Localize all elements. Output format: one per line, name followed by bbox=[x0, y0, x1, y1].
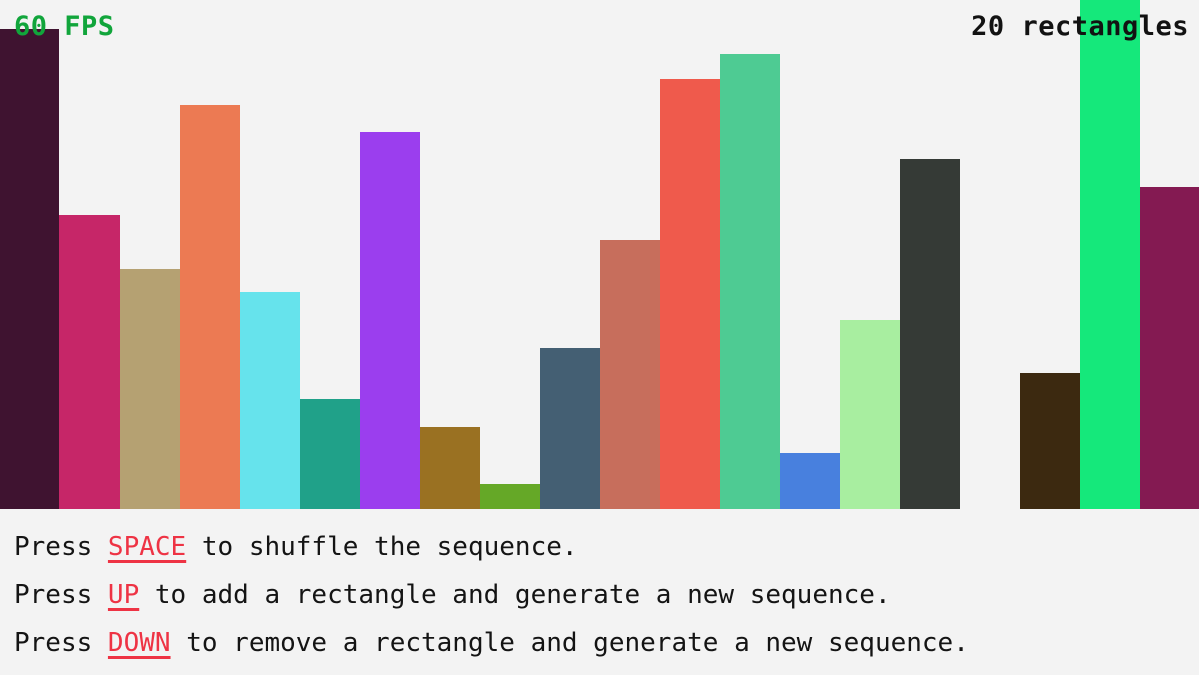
app-canvas: 60 FPS 20 rectangles Press SPACE to shuf… bbox=[0, 0, 1199, 675]
bar-6 bbox=[300, 399, 360, 509]
key-space[interactable]: SPACE bbox=[108, 532, 186, 562]
bar-14 bbox=[780, 453, 840, 509]
bar-8 bbox=[420, 427, 480, 509]
bar-9 bbox=[480, 484, 540, 509]
bar-4 bbox=[180, 105, 240, 509]
instructions-panel: Press SPACE to shuffle the sequence. Pre… bbox=[0, 509, 1199, 675]
bar-16 bbox=[900, 159, 960, 509]
instruction-line-up: Press UP to add a rectangle and generate… bbox=[14, 571, 1199, 619]
bar-12 bbox=[660, 79, 720, 509]
bar-2 bbox=[59, 215, 120, 509]
instruction-prefix: Press bbox=[14, 580, 108, 610]
bar-18 bbox=[1020, 373, 1080, 509]
key-down[interactable]: DOWN bbox=[108, 628, 171, 658]
instruction-suffix: to remove a rectangle and generate a new… bbox=[171, 628, 969, 658]
instruction-suffix: to add a rectangle and generate a new se… bbox=[139, 580, 890, 610]
bar-13 bbox=[720, 54, 780, 509]
instruction-line-space: Press SPACE to shuffle the sequence. bbox=[14, 523, 1199, 571]
instruction-suffix: to shuffle the sequence. bbox=[186, 532, 577, 562]
instruction-prefix: Press bbox=[14, 628, 108, 658]
instruction-prefix: Press bbox=[14, 532, 108, 562]
bar-19 bbox=[1080, 0, 1140, 509]
bar-15 bbox=[840, 320, 900, 509]
bar-3 bbox=[120, 269, 180, 509]
fps-counter: 60 FPS bbox=[14, 11, 115, 42]
bar-11 bbox=[600, 240, 660, 509]
key-up[interactable]: UP bbox=[108, 580, 139, 610]
bar-20 bbox=[1140, 187, 1199, 509]
bar-chart bbox=[0, 0, 1199, 509]
bar-7 bbox=[360, 132, 420, 509]
bar-10 bbox=[540, 348, 600, 509]
bar-1 bbox=[0, 29, 59, 509]
rectangle-count-label: 20 rectangles bbox=[971, 11, 1189, 42]
bar-5 bbox=[240, 292, 300, 509]
instruction-line-down: Press DOWN to remove a rectangle and gen… bbox=[14, 619, 1199, 667]
